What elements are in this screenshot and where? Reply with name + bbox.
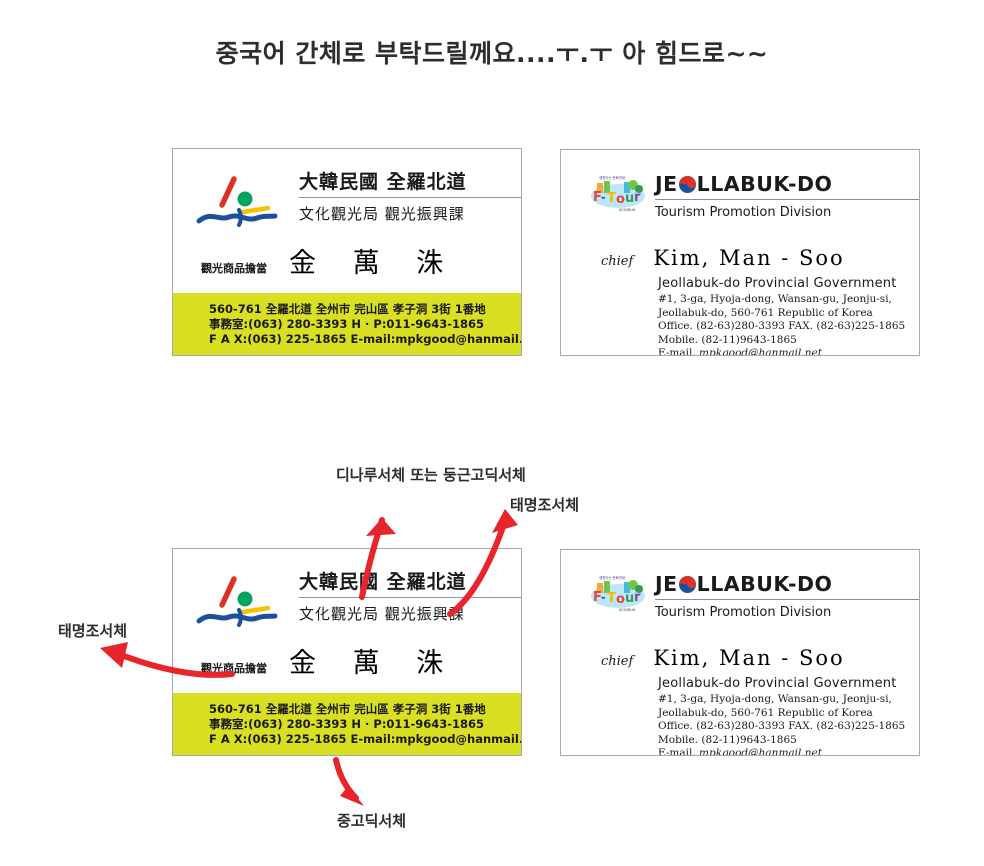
division-subtitle: Tourism Promotion Division (655, 205, 920, 220)
job-role: 觀光商品擔當 (201, 660, 267, 676)
english-card-address-block: Jeollabuk-do Provincial Government #1, 3… (658, 276, 920, 356)
mobile-line: Mobile. (82-11)9643-1865 (658, 334, 920, 348)
email-line: E-mail. mpkgood@hanmail.net (658, 347, 920, 356)
svg-text:생명이는 문화관광: 생명이는 문화관광 (599, 575, 625, 580)
person-name: 金 萬 洙 (289, 241, 457, 280)
svg-text:T: T (607, 191, 616, 206)
korean-card-titles: 大韓民國 全羅北道 文化觀光局 觀光振興課 (299, 169, 522, 224)
annotation-label-footer-font: 중고딕서체 (337, 810, 406, 831)
address-line-1: #1, 3-ga, Hyoja-dong, Wansan-gu, Jeonju-… (658, 693, 920, 707)
korea-tourism-logo (195, 175, 291, 231)
office-fax-line: Office. (82-63)280-3393 FAX. (82-63)225-… (658, 720, 920, 734)
fax-email-line: F A X:(063) 225-1865 E-mail:mpkgood@hanm… (209, 332, 522, 347)
english-card-header: 생명이는 문화관광 F - T o u r JEONBUK (589, 572, 901, 620)
korean-card-person: 觀光商品擔當 金 萬 洙 (201, 641, 501, 680)
chief-label: chief (601, 654, 633, 669)
title-text-after: LLABUK-DO (697, 572, 833, 596)
svg-text:JEONBUK: JEONBUK (618, 208, 636, 212)
svg-text:JEONBUK: JEONBUK (618, 608, 636, 612)
mobile-line: Mobile. (82-11)9643-1865 (658, 734, 920, 748)
korean-card-contact-block: 560-761 全羅北道 全州市 完山區 孝子洞 3街 1番地 事務室:(063… (209, 302, 522, 347)
korean-card-person: 觀光商品擔當 金 萬 洙 (201, 241, 501, 280)
svg-text:u: u (625, 191, 634, 206)
svg-text:o: o (616, 592, 625, 607)
phone-line: 事務室:(063) 280-3393 H · P:011-9643-1865 (209, 717, 522, 732)
korea-tourism-logo (195, 575, 291, 631)
address-line-2: Jeollabuk-do, 560-761 Republic of Korea (658, 307, 920, 321)
english-card-header: 생명이는 문화관광 F - T o u r JEONBUK (589, 172, 901, 220)
person-name: Kim, Man - Soo (653, 646, 844, 670)
email-line: E-mail. mpkgood@hanmail.net (658, 747, 920, 756)
office-fax-line: Office. (82-63)280-3393 FAX. (82-63)225-… (658, 320, 920, 334)
chief-label: chief (601, 254, 633, 269)
header-divider (299, 197, 522, 198)
header-divider (655, 199, 920, 200)
arrow-to-footer-font (336, 760, 364, 806)
business-card-english-bottom: 생명이는 문화관광 F - T o u r JEONBUK (560, 549, 920, 756)
business-card-korean-top: 大韓民國 全羅北道 文化觀光局 觀光振興課 觀光商品擔當 金 萬 洙 560-7… (172, 148, 522, 356)
english-card-person: chief Kim, Man - Soo (601, 646, 845, 670)
department-name: 文化觀光局 觀光振興課 (299, 203, 522, 224)
title-text-before: JE (655, 172, 678, 196)
email-label: E-mail. (658, 347, 696, 356)
government-name: Jeollabuk-do Provincial Government (658, 676, 920, 691)
page-title: 중국어 간체로 부탁드릴께요....ㅜ.ㅜ 아 힘드로~~ (0, 34, 984, 70)
jeollabuk-do-title: JE LLABUK-DO (655, 572, 920, 596)
svg-text:생명이는 문화관광: 생명이는 문화관광 (599, 175, 625, 180)
phone-line: 事務室:(063) 280-3393 H · P:011-9643-1865 (209, 317, 522, 332)
address-line-2: Jeollabuk-do, 560-761 Republic of Korea (658, 707, 920, 721)
korean-card-header: 大韓民國 全羅北道 文化觀光局 觀光振興課 (195, 169, 501, 231)
svg-text:-: - (601, 591, 606, 604)
person-name: Kim, Man - Soo (653, 246, 844, 270)
organization-name: 大韓民國 全羅北道 (299, 569, 522, 595)
person-name: 金 萬 洙 (289, 641, 457, 680)
department-name: 文化觀光局 觀光振興課 (299, 603, 522, 624)
annotation-label-heading-font: 디나루서체 또는 둥근고딕서체 (336, 464, 526, 485)
korean-card-footer-band: 560-761 全羅北道 全州市 完山區 孝子洞 3街 1番地 事務室:(063… (173, 293, 521, 355)
address-line-1: #1, 3-ga, Hyoja-dong, Wansan-gu, Jeonju-… (658, 293, 920, 307)
address-line: 560-761 全羅北道 全州市 完山區 孝子洞 3街 1番地 (209, 302, 522, 317)
email-address: mpkgood@hanmail.net (699, 347, 822, 356)
korean-card-contact-block: 560-761 全羅北道 全州市 完山區 孝子洞 3街 1番地 事務室:(063… (209, 702, 522, 747)
english-card-address-block: Jeollabuk-do Provincial Government #1, 3… (658, 676, 920, 756)
header-divider (299, 597, 522, 598)
jeollabuk-do-title: JE LLABUK-DO (655, 172, 920, 196)
svg-text:o: o (616, 192, 625, 207)
f-tour-jeonbuk-logo: 생명이는 문화관광 F - T o u r JEONBUK (589, 573, 647, 613)
svg-text:r: r (634, 590, 641, 605)
annotation-label-name-font: 태명조서체 (58, 620, 127, 641)
korean-card-footer-band: 560-761 全羅北道 全州市 完山區 孝子洞 3街 1番地 事務室:(063… (173, 693, 521, 755)
email-label: E-mail. (658, 747, 696, 756)
svg-text:-: - (601, 191, 606, 204)
svg-text:r: r (634, 190, 641, 205)
business-card-korean-bottom: 大韓民國 全羅北道 文化觀光局 觀光振興課 觀光商品擔當 金 萬 洙 560-7… (172, 548, 522, 756)
email-address: mpkgood@hanmail.net (699, 747, 822, 756)
f-tour-jeonbuk-logo: 생명이는 문화관광 F - T o u r JEONBUK (589, 173, 647, 213)
header-divider (655, 599, 920, 600)
division-subtitle: Tourism Promotion Division (655, 605, 920, 620)
title-text-after: LLABUK-DO (697, 172, 833, 196)
government-name: Jeollabuk-do Provincial Government (658, 276, 920, 291)
title-text-before: JE (655, 572, 678, 596)
english-card-person: chief Kim, Man - Soo (601, 246, 845, 270)
annotation-label-department-font: 태명조서체 (510, 494, 579, 515)
korean-card-titles: 大韓民國 全羅北道 文化觀光局 觀光振興課 (299, 569, 522, 624)
taeguk-circle-icon (679, 176, 696, 193)
svg-text:T: T (607, 591, 616, 606)
korean-card-header: 大韓民國 全羅北道 文化觀光局 觀光振興課 (195, 569, 501, 631)
fax-email-line: F A X:(063) 225-1865 E-mail:mpkgood@hanm… (209, 732, 522, 747)
svg-text:u: u (625, 591, 634, 606)
organization-name: 大韓民國 全羅北道 (299, 169, 522, 195)
business-card-english-top: 생명이는 문화관광 F - T o u r JEONBUK (560, 149, 920, 356)
taeguk-circle-icon (679, 576, 696, 593)
address-line: 560-761 全羅北道 全州市 完山區 孝子洞 3街 1番地 (209, 702, 522, 717)
job-role: 觀光商品擔當 (201, 260, 267, 276)
